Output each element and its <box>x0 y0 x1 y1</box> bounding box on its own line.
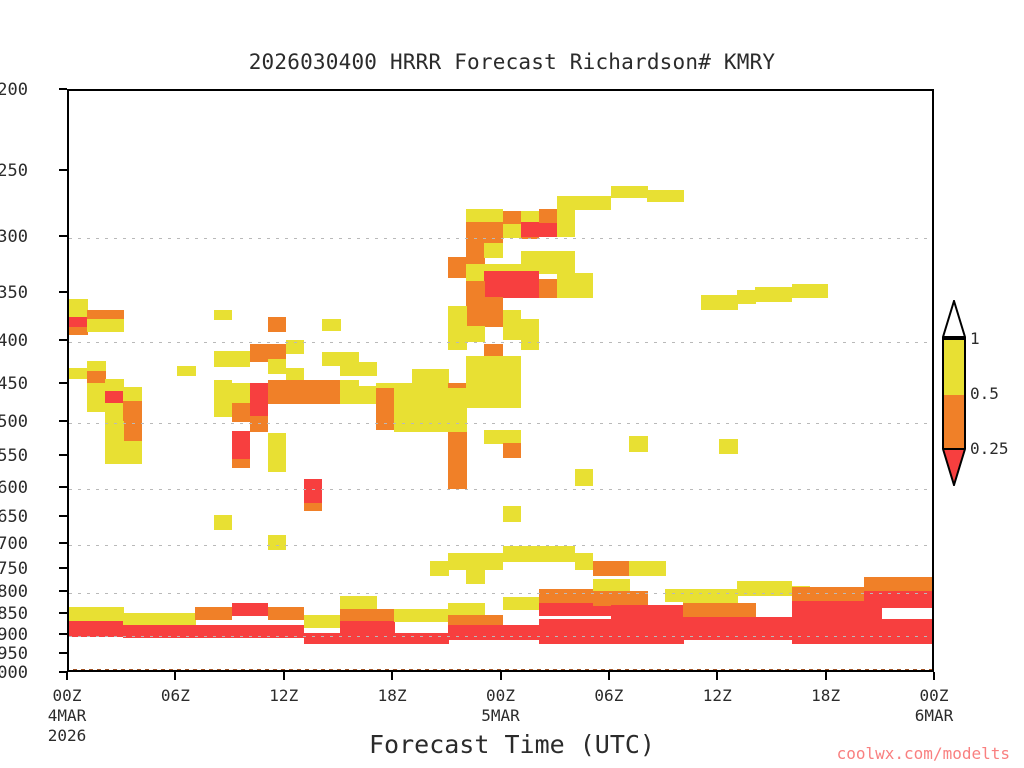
gridline <box>69 636 932 637</box>
x-axis-tick-label: 18Z <box>347 686 437 705</box>
heatmap-cell <box>575 469 594 486</box>
heatmap-cell <box>484 209 503 223</box>
y-axis-tick-label: 650 <box>0 507 28 527</box>
x-axis-tick-mark <box>933 672 935 680</box>
heatmap-cell <box>448 603 485 616</box>
heatmap-cell <box>268 317 287 332</box>
heatmap-cell <box>629 561 666 576</box>
x-axis-tick-mark <box>825 672 827 680</box>
y-axis-tick-label: 300 <box>0 227 28 247</box>
colorbar-tick-label: 0.25 <box>970 439 1009 458</box>
heatmap-cell <box>521 222 558 237</box>
x-axis-tick-mark <box>716 672 718 680</box>
heatmap-cell <box>195 607 232 620</box>
x-axis-tick-mark <box>500 672 502 680</box>
y-axis-tick-mark <box>59 291 67 293</box>
x-axis-tick-label: 12Z <box>672 686 762 705</box>
heatmap-cell <box>503 224 522 238</box>
heatmap-cell <box>340 621 395 634</box>
y-axis-tick-label: 250 <box>0 161 28 181</box>
heatmap-cell <box>448 553 503 570</box>
heatmap-cell <box>448 473 467 489</box>
watermark: coolwx.com/modelts <box>0 744 1010 763</box>
y-axis-tick-mark <box>59 633 67 635</box>
heatmap-cell <box>304 503 323 511</box>
heatmap-cell <box>214 310 233 320</box>
heatmap-cell <box>448 625 539 640</box>
heatmap-cell <box>87 319 124 332</box>
heatmap-cell <box>123 441 142 464</box>
y-axis-tick-label: 200 <box>0 80 28 100</box>
y-axis-tick-mark <box>59 88 67 90</box>
heatmap-cell <box>466 243 485 258</box>
heatmap-cell <box>232 383 251 404</box>
heatmap-cell <box>268 359 287 374</box>
heatmap-cell <box>466 356 521 384</box>
y-axis-tick-label: 350 <box>0 283 28 303</box>
x-axis-tick-label: 06Z <box>564 686 654 705</box>
heatmap-cell <box>466 326 485 342</box>
x-axis-tick-label: 00Z <box>456 686 546 705</box>
gridline <box>69 489 932 490</box>
x-axis-tick-label: 00Z <box>22 686 112 705</box>
heatmap-cell <box>87 361 106 372</box>
y-axis-tick-mark <box>59 542 67 544</box>
heatmap-cell <box>466 222 485 244</box>
heatmap-cell <box>87 371 106 384</box>
heatmap-cell <box>430 561 449 576</box>
heatmap-cell <box>755 287 792 302</box>
heatmap-cell <box>304 615 341 628</box>
heatmap-cell <box>466 306 503 327</box>
heatmap-plot-area <box>67 89 934 672</box>
heatmap-cell <box>575 553 594 570</box>
heatmap-cell <box>484 430 521 444</box>
y-axis-tick-label: 550 <box>0 446 28 466</box>
heatmap-cell <box>69 299 88 318</box>
heatmap-cell <box>340 609 395 622</box>
heatmap-cell <box>214 380 233 394</box>
y-axis-tick-mark <box>59 339 67 341</box>
heatmap-cell <box>484 243 503 258</box>
heatmap-cells <box>69 91 932 670</box>
y-axis-tick-mark <box>59 590 67 592</box>
heatmap-cell <box>250 395 269 417</box>
heatmap-cell <box>358 386 377 404</box>
heatmap-cell <box>864 577 934 592</box>
heatmap-cell <box>737 290 756 304</box>
heatmap-cell <box>647 190 684 202</box>
y-axis-tick-mark <box>59 169 67 171</box>
heatmap-cell <box>466 209 485 223</box>
heatmap-cell <box>792 619 935 644</box>
heatmap-cell <box>69 317 88 328</box>
heatmap-cell <box>503 443 522 458</box>
y-axis-tick-mark <box>59 382 67 384</box>
heatmap-cell <box>466 569 485 584</box>
x-axis-tick-mark <box>283 672 285 680</box>
y-axis-tick-mark <box>59 420 67 422</box>
heatmap-cell <box>701 295 738 310</box>
heatmap-cell <box>503 310 522 340</box>
heatmap-cell <box>69 368 88 379</box>
heatmap-cell <box>466 383 521 408</box>
heatmap-cell <box>448 615 503 626</box>
heatmap-cell <box>250 383 269 396</box>
colorbar-segment <box>944 395 964 450</box>
heatmap-cell <box>232 431 251 460</box>
y-axis-tick-label: 600 <box>0 478 28 498</box>
x-axis-date-label: 5MAR <box>456 706 546 725</box>
y-axis-tick-mark <box>59 235 67 237</box>
heatmap-cell <box>123 387 142 402</box>
heatmap-cell <box>268 433 287 472</box>
heatmap-cell <box>394 609 449 622</box>
heatmap-cell <box>484 222 503 244</box>
y-axis-tick-mark <box>59 612 67 614</box>
x-axis-tick-mark <box>391 672 393 680</box>
heatmap-cell <box>394 388 467 432</box>
heatmap-cell <box>69 607 124 622</box>
x-axis-tick-label: 06Z <box>130 686 220 705</box>
heatmap-cell <box>177 366 196 376</box>
heatmap-cell <box>232 459 251 468</box>
x-axis-tick-label: 00Z <box>889 686 979 705</box>
heatmap-cell <box>665 589 684 602</box>
x-axis-tick-label: 18Z <box>781 686 871 705</box>
heatmap-cell <box>683 603 756 618</box>
y-axis-tick-label: 750 <box>0 559 28 579</box>
y-axis-tick-label: 450 <box>0 374 28 394</box>
colorbar-bottom-arrow <box>942 448 966 486</box>
heatmap-cell <box>557 273 594 298</box>
y-axis-tick-label: 400 <box>0 331 28 351</box>
x-axis-tick-label: 12Z <box>239 686 329 705</box>
page-title: 2026030400 HRRR Forecast Richardson# KMR… <box>0 50 1024 74</box>
heatmap-cell <box>683 589 738 604</box>
heatmap-cell <box>214 351 251 367</box>
heatmap-cell <box>611 186 648 198</box>
y-axis-tick-mark <box>59 567 67 569</box>
x-axis-tick-mark <box>608 672 610 680</box>
heatmap-cell <box>123 401 142 442</box>
heatmap-cell <box>629 436 648 452</box>
heatmap-cell <box>69 327 88 335</box>
gridline <box>69 593 932 594</box>
heatmap-cell <box>214 403 233 417</box>
heatmap-cell <box>539 589 594 604</box>
heatmap-cell <box>214 515 233 530</box>
colorbar-tick-label: 0.5 <box>970 384 999 403</box>
heatmap-cell <box>593 579 630 592</box>
heatmap-cell <box>340 362 377 376</box>
y-axis-tick-label: 800 <box>0 582 28 602</box>
colorbar-segment <box>944 340 964 397</box>
heatmap-cell <box>466 281 485 298</box>
heatmap-cell <box>539 279 558 298</box>
heatmap-cell <box>322 319 341 331</box>
colorbar-tick-label: 1 <box>970 329 980 348</box>
y-axis-tick-label: 500 <box>0 412 28 432</box>
heatmap-cell <box>123 613 196 626</box>
gridline <box>69 238 932 239</box>
y-axis-tick-label: 900 <box>0 625 28 645</box>
heatmap-cell <box>340 380 359 404</box>
heatmap-cell <box>304 633 449 644</box>
heatmap-cell <box>232 403 251 422</box>
heatmap-cell <box>719 439 738 454</box>
heatmap-cell <box>268 535 287 550</box>
y-axis-tick-label: 850 <box>0 604 28 624</box>
gridline <box>69 423 932 424</box>
x-axis-tick-mark <box>174 672 176 680</box>
heatmap-cell <box>557 196 612 210</box>
heatmap-cell <box>105 421 124 464</box>
gridline <box>69 545 932 546</box>
heatmap-cell <box>503 506 522 522</box>
colorbar-top-arrow <box>942 300 966 338</box>
heatmap-cell <box>484 271 539 298</box>
heatmap-cell <box>503 211 522 225</box>
x-axis-tick-mark <box>66 672 68 680</box>
heatmap-cell <box>105 379 124 392</box>
y-axis-tick-mark <box>59 486 67 488</box>
heatmap-cell <box>593 561 630 576</box>
x-axis-date-label: 4MAR <box>22 706 112 725</box>
heatmap-cell <box>340 596 377 610</box>
y-axis-tick-label: 1000 <box>0 663 28 683</box>
y-axis-tick-label: 950 <box>0 644 28 664</box>
y-axis-tick-mark <box>59 515 67 517</box>
heatmap-cell <box>521 319 540 350</box>
heatmap-cell <box>105 391 124 404</box>
heatmap-cell <box>792 587 865 602</box>
terrain-surface-line <box>69 668 932 670</box>
heatmap-cell <box>503 546 576 562</box>
heatmap-cell <box>268 607 305 620</box>
colorbar-bottom-arrow-shape <box>942 448 966 486</box>
heatmap-cell <box>539 209 558 223</box>
heatmap-cell <box>792 284 829 298</box>
gridline <box>69 342 932 343</box>
heatmap-cell <box>105 403 124 422</box>
colorbar-top-arrow-shape <box>942 300 966 338</box>
y-axis-tick-mark <box>59 652 67 654</box>
heatmap-cell <box>268 380 341 404</box>
heatmap-cell <box>557 209 576 237</box>
heatmap-cell <box>611 605 684 620</box>
heatmap-cell <box>232 603 269 616</box>
heatmap-cell <box>87 383 106 412</box>
x-axis-date-label: 6MAR <box>889 706 979 725</box>
y-axis-tick-label: 700 <box>0 534 28 554</box>
heatmap-cell <box>304 479 323 504</box>
colorbar <box>942 338 966 448</box>
heatmap-cell <box>69 621 124 637</box>
heatmap-cell <box>539 619 684 644</box>
y-axis-tick-mark <box>59 454 67 456</box>
